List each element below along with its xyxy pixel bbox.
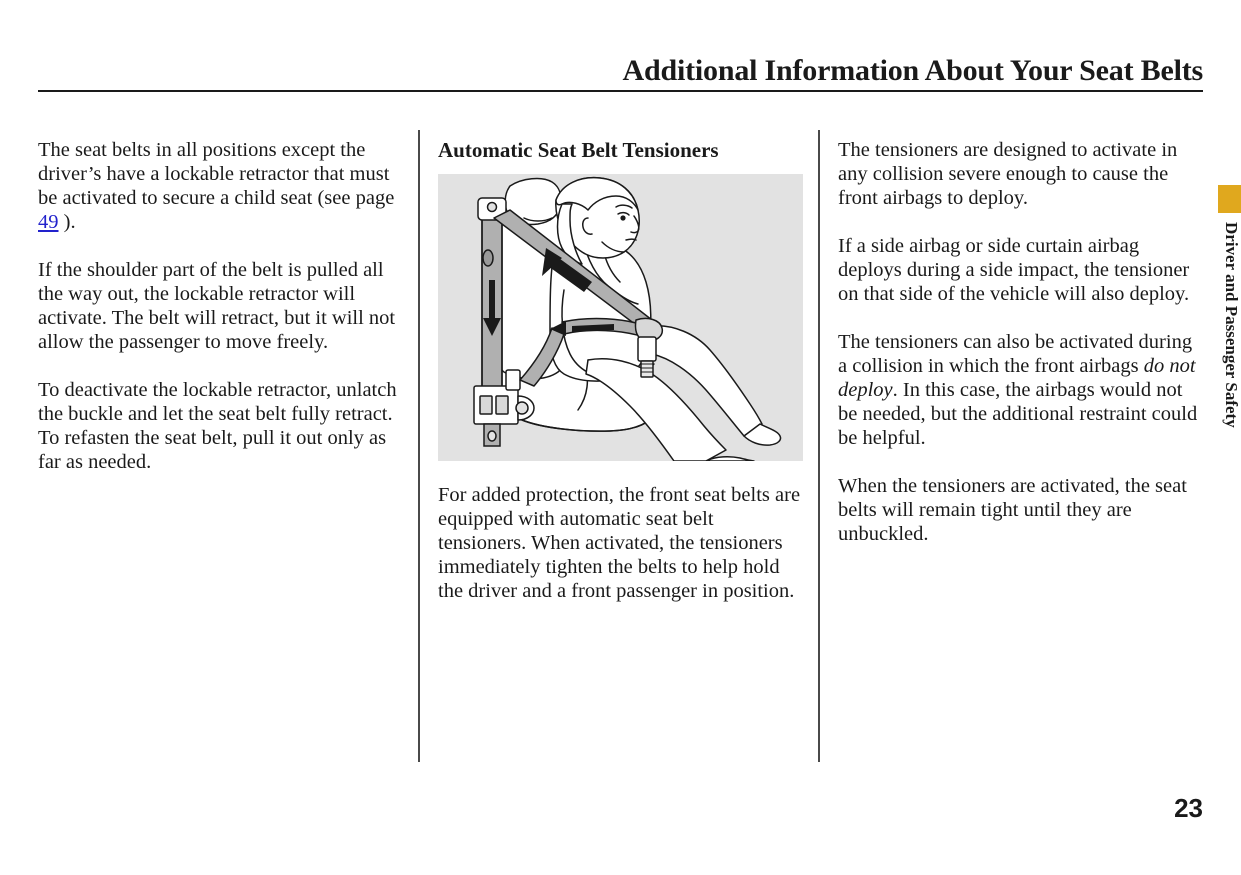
paragraph-shoulder-belt: If the shoulder part of the belt is pull… xyxy=(38,258,404,354)
paragraph-added-protection: For added protection, the front seat bel… xyxy=(438,483,804,603)
paragraph-text-before-link: The seat belts in all positions except t… xyxy=(38,139,394,209)
header-rule-divider xyxy=(38,90,1203,92)
paragraph-text-after-link: ). xyxy=(59,211,76,233)
page-header: Additional Information About Your Seat B… xyxy=(38,44,1203,92)
paragraph-belts-remain-tight: When the tensioners are activated, the s… xyxy=(838,474,1204,546)
middle-content-column: Automatic Seat Belt Tensioners xyxy=(438,138,804,603)
left-text-column: The seat belts in all positions except t… xyxy=(38,138,404,474)
paragraph-lockable-retractor: The seat belts in all positions except t… xyxy=(38,138,404,234)
section-heading-automatic-seat-belt-tensioners: Automatic Seat Belt Tensioners xyxy=(438,138,804,162)
section-tab-label: Driver and Passenger Safety xyxy=(1211,222,1241,502)
paragraph-text-after-italic: . In this case, the airbags would not be… xyxy=(838,379,1197,449)
seat-belt-illustration-svg xyxy=(438,174,803,461)
paragraph-tensioner-activation: The tensioners are designed to activate … xyxy=(838,138,1204,210)
right-text-column: The tensioners are designed to activate … xyxy=(838,138,1204,546)
column-divider-right xyxy=(818,130,820,762)
paragraph-deactivate-retractor: To deactivate the lockable retractor, un… xyxy=(38,378,404,474)
page-reference-link-49[interactable]: 49 xyxy=(38,211,59,233)
page-title: Additional Information About Your Seat B… xyxy=(623,54,1203,88)
column-divider-left xyxy=(418,130,420,762)
paragraph-side-airbag: If a side airbag or side curtain airbag … xyxy=(838,234,1204,306)
paragraph-no-airbag-deploy: The tensioners can also be activated dur… xyxy=(838,330,1204,450)
seat-belt-tensioner-illustration xyxy=(438,174,803,461)
page-number: 23 xyxy=(1174,793,1203,824)
section-tab-marker xyxy=(1218,185,1241,213)
paragraph-text-before-italic: The tensioners can also be activated dur… xyxy=(838,331,1192,377)
